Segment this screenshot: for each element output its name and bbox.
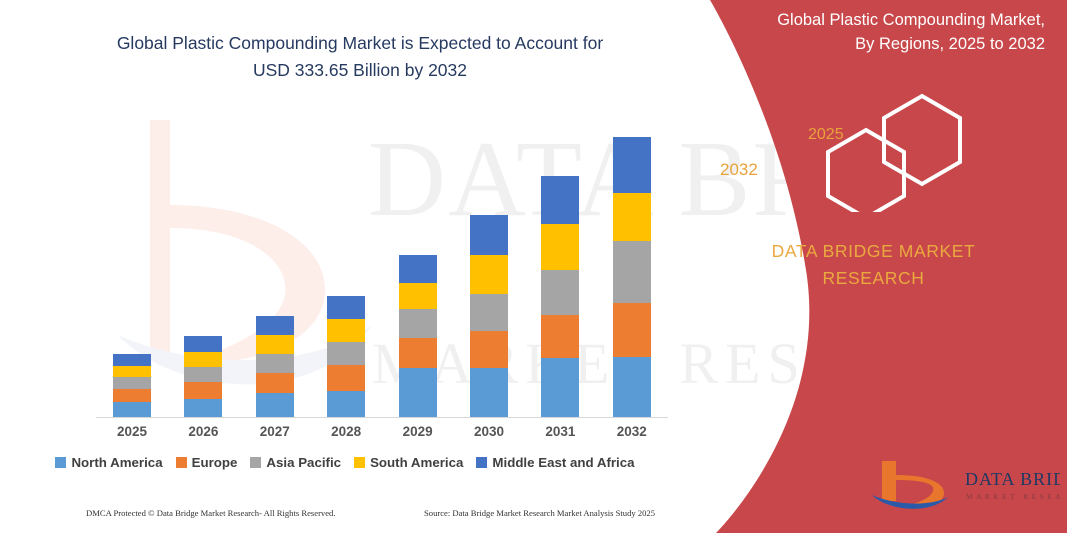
hexagon-label-start-year: 2025	[808, 126, 844, 144]
footnote-copyright: DMCA Protected © Data Bridge Market Rese…	[86, 508, 336, 518]
legend-swatch-icon	[55, 457, 66, 468]
legend-label: Middle East and Africa	[492, 455, 634, 470]
bar-segment	[399, 368, 437, 417]
legend-swatch-icon	[250, 457, 261, 468]
legend-label: Europe	[192, 455, 238, 470]
footnote-source: Source: Data Bridge Market Research Mark…	[424, 508, 655, 518]
svg-text:MARKET RESEARCH: MARKET RESEARCH	[966, 492, 1060, 501]
bar-segment	[613, 137, 651, 193]
legend-item[interactable]: Asia Pacific	[250, 455, 341, 470]
panel-title-line-2: By Regions, 2025 to 2032	[725, 32, 1045, 56]
bar-column	[541, 176, 579, 417]
infographic-root: DATA BRIDGE MARKET RESEARCH Global Plast…	[0, 0, 1067, 533]
legend-swatch-icon	[176, 457, 187, 468]
x-axis-tick-label: 2030	[449, 424, 529, 439]
panel-title: Global Plastic Compounding Market, By Re…	[725, 8, 1045, 56]
legend-item[interactable]: North America	[55, 455, 162, 470]
legend-swatch-icon	[476, 457, 487, 468]
legend-item[interactable]: Middle East and Africa	[476, 455, 634, 470]
bar-segment	[541, 270, 579, 315]
bar-segment	[184, 399, 222, 417]
bar-segment	[470, 255, 508, 294]
legend-item[interactable]: Europe	[176, 455, 238, 470]
bar-column	[184, 336, 222, 417]
brand-name-line-1: DATA BRIDGE MARKET	[680, 238, 1067, 265]
x-axis-tick-label: 2027	[235, 424, 315, 439]
chart-legend: North AmericaEuropeAsia PacificSouth Ame…	[0, 455, 690, 470]
svg-text:DATA BRIDGE: DATA BRIDGE	[965, 469, 1060, 489]
bar-segment	[470, 331, 508, 368]
bar-segment	[327, 365, 365, 391]
bar-segment	[399, 255, 437, 283]
bar-segment	[113, 366, 151, 377]
stacked-bars-container	[0, 0, 690, 417]
x-axis-tick-label: 2028	[306, 424, 386, 439]
bar-segment	[327, 391, 365, 417]
x-axis-line	[96, 417, 668, 418]
bar-segment	[541, 358, 579, 417]
chart-plot-area: 20252026202720282029203020312032	[0, 0, 690, 440]
legend-label: North America	[71, 455, 162, 470]
bar-segment	[184, 382, 222, 399]
bar-segment	[256, 373, 294, 393]
bar-segment	[613, 241, 651, 303]
bar-segment	[256, 335, 294, 354]
bar-segment	[113, 402, 151, 417]
bar-segment	[541, 176, 579, 224]
bar-column	[399, 255, 437, 417]
x-axis-tick-label: 2031	[520, 424, 600, 439]
bar-column	[327, 296, 365, 417]
data-bridge-logo-icon: DATA BRIDGE MARKET RESEARCH	[870, 455, 1060, 517]
bar-segment	[470, 294, 508, 331]
bar-segment	[399, 338, 437, 368]
bar-segment	[327, 296, 365, 319]
x-axis-tick-label: 2029	[378, 424, 458, 439]
bar-segment	[184, 352, 222, 367]
bar-segment	[113, 354, 151, 366]
legend-label: South America	[370, 455, 463, 470]
bar-segment	[470, 215, 508, 255]
bar-segment	[327, 319, 365, 342]
bar-segment	[613, 193, 651, 241]
bar-segment	[613, 303, 651, 357]
bar-segment	[399, 309, 437, 338]
bar-segment	[113, 377, 151, 389]
bar-segment	[256, 316, 294, 335]
bar-column	[613, 137, 651, 417]
bar-segment	[184, 336, 222, 352]
bar-segment	[256, 393, 294, 417]
brand-name: DATA BRIDGE MARKET RESEARCH	[680, 238, 1067, 292]
panel-title-line-1: Global Plastic Compounding Market,	[725, 8, 1045, 32]
x-axis-tick-label: 2025	[92, 424, 172, 439]
right-brand-panel: Global Plastic Compounding Market, By Re…	[680, 0, 1067, 533]
legend-item[interactable]: South America	[354, 455, 463, 470]
bar-segment	[113, 389, 151, 402]
bar-segment	[399, 283, 437, 309]
hexagon-label-end-year: 2032	[720, 160, 758, 180]
bar-column	[256, 316, 294, 417]
legend-swatch-icon	[354, 457, 365, 468]
hexagon-pair-icon	[820, 92, 1030, 212]
bar-segment	[541, 224, 579, 270]
bar-segment	[541, 315, 579, 358]
x-axis-tick-label: 2032	[592, 424, 672, 439]
brand-name-line-2: RESEARCH	[680, 265, 1067, 292]
bar-segment	[327, 342, 365, 365]
bar-column	[113, 354, 151, 417]
bar-column	[470, 215, 508, 417]
bar-segment	[184, 367, 222, 382]
legend-label: Asia Pacific	[266, 455, 341, 470]
x-axis-tick-label: 2026	[163, 424, 243, 439]
bar-segment	[256, 354, 294, 373]
bar-segment	[470, 368, 508, 417]
bar-segment	[613, 357, 651, 417]
